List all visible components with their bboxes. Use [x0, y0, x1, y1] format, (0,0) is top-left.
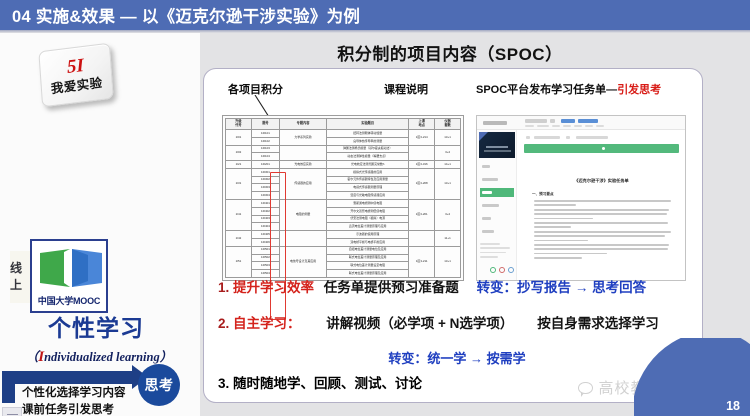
spoc-banner-corner-icon: [479, 132, 488, 141]
page-number: 18: [726, 399, 740, 413]
subheading-open: （: [26, 350, 39, 364]
bullet-2-black2: 按自身需求选择学习: [537, 316, 659, 331]
cell-no: 1I0401: [251, 200, 279, 208]
spoc-topbar: [477, 116, 685, 130]
cell-place: 1区3-208: [409, 168, 435, 199]
slide-root: 04 实施&效果 — 以《迈克尔逊干涉实验》为例 5I 我爱实验 线上 中国大学…: [0, 0, 750, 416]
bullet-row-3: 3. 随时随地学、回顾、测试、讨论: [218, 372, 422, 392]
wechat-bubble-icon: [578, 382, 593, 394]
cell-no: 1I0201: [251, 161, 279, 169]
cell-item: 联式电位差计测量设定电阻: [327, 262, 409, 270]
spoc-doc-title: 《迈克尔逊干涉》实验任务单: [518, 178, 685, 184]
cell-sets: 3+4: [435, 200, 461, 231]
spoc-doc-section: 一、预习要点: [532, 192, 554, 197]
cell-item: 示波器的使用原理: [327, 231, 409, 239]
cell-sets: 13+1: [435, 168, 461, 199]
mooc-book-icon: [38, 247, 104, 291]
cell-topic: 电阻的测量: [280, 200, 327, 231]
bullet-row-2: 2. 自主学习： 讲解视频（必学项 + N选学项） 按自身需求选择学习: [218, 312, 696, 348]
cell-no: 1I0103: [251, 145, 279, 153]
mooc-caption: 中国大学MOOC: [32, 294, 106, 307]
table-body: 1I011I0101力学系列实验扭转法测刚体转动惯量1区3-21413+11I0…: [226, 130, 461, 278]
spoc-content: 《迈克尔逊干涉》实验任务单 一、预习要点: [518, 130, 685, 280]
table-row: 1I011I0101力学系列实验扭转法测刚体转动惯量1区3-21413+1: [226, 130, 461, 138]
left-sidebar: 5I 我爱实验 线上 中国大学MOOC 个性学习 （Individualized…: [0, 33, 200, 416]
cell-no: 1I0403: [251, 215, 279, 223]
cell-item: 霍尔元件传感器特性及应用测量: [327, 176, 409, 184]
label-spoc-black: SPOC平台发布学习任务单—: [476, 84, 617, 96]
cell-sets: 13+1: [435, 246, 461, 277]
content-title: 积分制的项目内容（SPOC）: [200, 40, 700, 65]
logo-5i-top: 5I: [66, 56, 84, 77]
spoc-nav-item-3[interactable]: [561, 119, 575, 123]
table-row: 1I421I0405示波器的使用原理11+1: [226, 231, 461, 239]
cell-item: 动态法测弹性模量（等腰支点）: [327, 153, 409, 161]
panel-label-row: 各项目积分 课程说明 SPOC平台发布学习任务单—引发思考: [204, 81, 702, 97]
spoc-subnav-6[interactable]: [585, 125, 593, 128]
cell-item: 扭转法测刚体转动惯量: [327, 130, 409, 138]
cell-topic: 光电效应实验: [280, 161, 327, 169]
sidebar-note-2: 课前任务引发思考: [22, 402, 197, 416]
cell-topic: 传感器的应用: [280, 168, 327, 199]
spoc-banner-line-2: [484, 150, 511, 152]
cell-item: 开尔文双臂电桥测低值电阻: [327, 207, 409, 215]
sidebar-heading: 个性学习: [26, 317, 166, 340]
subheading-rest: ndividualized learning: [44, 350, 160, 364]
sidebar-note-1: 个性化选择学习内容: [22, 385, 197, 402]
th-topic: 专题内容: [280, 119, 327, 130]
spoc-course-banner: [479, 132, 515, 158]
watermark: 高校教学创新100人: [578, 377, 736, 398]
pointer-line-icon: [254, 95, 272, 117]
slide-header: 04 实施&效果 — 以《迈克尔逊干涉实验》为例: [0, 0, 750, 30]
cell-sets: 3+4: [435, 145, 461, 161]
table-row: 1I211I0201光电效应实验光电效应法测普朗克常数h1区3-31614+1: [226, 161, 461, 169]
th-code: 升级代号: [226, 119, 252, 130]
cell-item: 电感式传感器测量原理: [327, 184, 409, 192]
bullet-3-red: 随时随地学、回顾、测试、讨论: [233, 376, 422, 391]
cell-item: 伏安法测电阻（模拟）电源: [327, 215, 409, 223]
table-row: 1I311I0301传感器的应用模拟式光传感器的应用1区3-20813+1: [226, 168, 461, 176]
page-title: 04 实施&效果 — 以《迈克尔逊干涉实验》为例: [0, 3, 360, 27]
cell-place: 1区3-214: [409, 130, 435, 146]
cell-item: 良导体热传导率的测量: [327, 137, 409, 145]
score-table-image: 升级代号 题号 专题内容 实验题目 上课地点 仪器套数 1I011I0101力学…: [222, 115, 464, 281]
th-no: 题号: [251, 119, 279, 130]
spoc-nav-item-1[interactable]: [525, 119, 547, 123]
spoc-breadcrumb-1[interactable]: [534, 136, 560, 139]
spoc-icon-1[interactable]: [490, 267, 496, 273]
spoc-green-dot-icon: [602, 147, 605, 150]
spoc-icon-3[interactable]: [508, 267, 514, 273]
cell-place: [409, 231, 435, 247]
cell-item: 弹簧法测杨氏模量（基尔霍夫振动法）: [327, 145, 409, 153]
spoc-breadcrumb-2[interactable]: [576, 136, 608, 139]
spoc-subnav-7[interactable]: [596, 125, 604, 128]
bullet-1-black: 任务单提供预习准备题: [324, 280, 459, 295]
spoc-subnav-3[interactable]: [552, 125, 560, 128]
watermark-text: 高校教学创新100人: [598, 377, 736, 398]
bullet-2-red: 自主学习：: [233, 316, 301, 331]
spoc-breadcrumb-home[interactable]: [526, 136, 530, 139]
spoc-nav-item-4[interactable]: [578, 119, 598, 123]
spoc-menu-item-1[interactable]: [480, 162, 514, 171]
spoc-banner-line-1: [486, 146, 508, 148]
cell-place: [409, 145, 435, 161]
spoc-subnav-2[interactable]: [537, 125, 549, 128]
table-header-row: 升级代号 题号 专题内容 实验题目 上课地点 仪器套数: [226, 119, 461, 130]
bullet-row-1: 1. 提升学习效率 任务单提供预习准备题 转变：抄写报告 → 思考回答: [218, 276, 696, 312]
cell-item: 模拟式光传感器的应用: [327, 168, 409, 176]
spoc-nav-item-2[interactable]: [550, 119, 555, 123]
th-item: 实验题目: [327, 119, 409, 130]
cell-no: 1I0402: [251, 207, 279, 215]
spoc-sidebar-footer: [480, 243, 514, 260]
cell-topic: 电信号设计及其应用: [280, 246, 327, 277]
transform-note: 转变：统一学 → 按需学: [218, 348, 696, 367]
table-row: 1I021I0103弹簧法测杨氏模量（基尔霍夫振动法）3+4: [226, 145, 461, 153]
cell-code: 1I02: [226, 145, 252, 161]
spoc-screenshot: 《迈克尔逊干涉》实验任务单 一、预习要点: [476, 115, 686, 281]
cell-no: 1I0406: [251, 238, 279, 246]
cell-place: 1区3-211: [409, 246, 435, 277]
sidebar-notes: 个性化选择学习内容 课前任务引发思考 讨论设计方案: [22, 385, 197, 416]
cell-no: 1I0501: [251, 246, 279, 254]
score-table: 升级代号 题号 专题内容 实验题目 上课地点 仪器套数 1I011I0101力学…: [225, 118, 461, 278]
arrow-stem: [2, 371, 134, 384]
cell-code: 1I41: [226, 200, 252, 231]
bullet-3-num: 3.: [218, 376, 229, 391]
cell-no: 1I0301: [251, 168, 279, 176]
spoc-menu-item-active[interactable]: [480, 188, 514, 197]
spoc-menu-item-5[interactable]: [480, 214, 514, 223]
cell-item: 惠斯通电桥测中值电阻: [327, 200, 409, 208]
table-row: 1I511I0501电信号设计及其应用自组电位差计测量电位及应用1区3-2111…: [226, 246, 461, 254]
spoc-logo-icon: [483, 121, 507, 125]
cell-code: 1I21: [226, 161, 252, 169]
cell-no: 1I0303: [251, 184, 279, 192]
spoc-social-icons: [480, 266, 514, 275]
spoc-subnav-4[interactable]: [563, 125, 571, 128]
cell-sets: 11+1: [435, 231, 461, 247]
cell-item: 双电桥平衡与电桥平衡应用: [327, 238, 409, 246]
spoc-icon-2[interactable]: [499, 267, 505, 273]
cell-place: 1区3-316: [409, 161, 435, 169]
cell-no: 1I0102: [251, 137, 279, 145]
spoc-sidebar: [477, 130, 517, 280]
th-sets: 仪器套数: [435, 119, 461, 130]
cell-no: 1I0101: [251, 130, 279, 138]
cell-code: 1I01: [226, 130, 252, 146]
bullet-1-num: 1.: [218, 280, 229, 295]
spoc-doc-body: [534, 200, 675, 261]
th-place: 上课地点: [409, 119, 435, 130]
spoc-subnav-5[interactable]: [574, 125, 582, 128]
grid-icon: [2, 407, 22, 416]
cell-item: 联式电位差计测量原理及应用: [327, 254, 409, 262]
cell-item: 温度与光敏电阻传感器应用: [327, 192, 409, 200]
bullet-1-red: 提升学习效率: [233, 280, 314, 295]
cell-code: 1I31: [226, 168, 252, 199]
spoc-menu-item-4[interactable]: [480, 201, 514, 210]
cell-no: 1I0304: [251, 192, 279, 200]
mooc-logo: 中国大学MOOC: [30, 239, 108, 313]
spoc-breadcrumb-sep: [566, 136, 570, 139]
cell-code: 1I51: [226, 246, 252, 277]
bullet-2-black: 讲解视频（必学项 + N选学项）: [326, 316, 513, 331]
cell-no: 1I0502: [251, 254, 279, 262]
cell-no: 1I0405: [251, 231, 279, 239]
label-course-desc: 课程说明: [384, 81, 428, 97]
logo-5i-bottom: 我爱实验: [51, 77, 104, 96]
logo-5i-card: 5I 我爱实验: [38, 43, 113, 108]
cell-no: 1I0104: [251, 153, 279, 161]
cell-no: 1I0404: [251, 223, 279, 231]
cell-code: 1I42: [226, 231, 252, 247]
cell-item: 光电效应法测普朗克常数h: [327, 161, 409, 169]
cell-topic: [280, 145, 327, 161]
cell-item: 自组电位差计测量电位及应用: [327, 246, 409, 254]
spoc-subnav-1[interactable]: [525, 125, 534, 128]
spoc-menu-item-2[interactable]: [480, 175, 514, 184]
label-spoc: SPOC平台发布学习任务单—引发思考: [476, 81, 661, 97]
cell-no: 1I0503: [251, 262, 279, 270]
table-row: 1I411I0401电阻的测量惠斯通电桥测中值电阻1区3-2013+4: [226, 200, 461, 208]
subheading-close: ）: [160, 350, 173, 364]
spoc-menu: [480, 162, 514, 240]
cell-item: 直流电位差计测量原理与应用: [327, 223, 409, 231]
cell-place: 1区3-201: [409, 200, 435, 231]
cell-sets: 14+1: [435, 161, 461, 169]
cell-sets: 13+1: [435, 130, 461, 146]
cell-topic: [280, 231, 327, 247]
label-spoc-red: 引发思考: [617, 84, 661, 96]
bullet-1-blue: 转变：抄写报告 → 思考回答: [477, 280, 647, 295]
bullet-2-num: 2.: [218, 316, 229, 331]
bullet-list: 1. 提升学习效率 任务单提供预习准备题 转变：抄写报告 → 思考回答 2. 自…: [218, 276, 696, 348]
spoc-green-banner: [524, 144, 679, 153]
cell-no: 1I0302: [251, 176, 279, 184]
cell-topic: 力学系列实验: [280, 130, 327, 146]
sidebar-subheading: （Individualized learning）: [6, 346, 192, 366]
spoc-menu-item-6[interactable]: [480, 227, 514, 236]
